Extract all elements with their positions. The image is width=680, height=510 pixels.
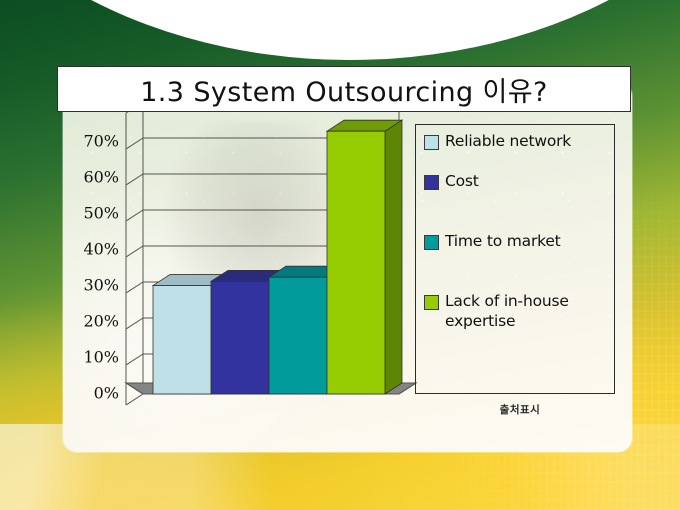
bar-4 — [327, 120, 402, 394]
header-swoosh — [0, 0, 680, 60]
legend-swatch-time-to-market — [424, 235, 439, 250]
legend-label-cost: Cost — [445, 171, 479, 191]
plot-area — [121, 82, 421, 412]
legend-swatch-cost — [424, 175, 439, 190]
page-title: 1.3 System Outsourcing 이유? — [140, 70, 548, 109]
legend-label-time-to-market: Time to market — [445, 231, 561, 251]
legend-swatch-lack-of-in-house-expertise — [424, 295, 439, 310]
y-axis-labels: 70% 60% 50% 40% 30% 20% 10% 0% — [63, 82, 119, 452]
legend-item-time-to-market: Time to market — [424, 231, 610, 251]
legend-item-lack-of-in-house-expertise: Lack of in-house expertise — [424, 291, 610, 331]
legend-swatch-reliable-network — [424, 135, 439, 150]
outsourcing-reasons-chart: 70% 60% 50% 40% 30% 20% 10% 0% — [63, 82, 632, 452]
y-tick-50: 50% — [73, 204, 119, 223]
y-tick-0: 0% — [73, 384, 119, 403]
content-panel: 70% 60% 50% 40% 30% 20% 10% 0% — [63, 82, 632, 452]
legend-item-reliable-network: Reliable network — [424, 131, 610, 151]
slide-title-box: 1.3 System Outsourcing 이유? — [57, 66, 631, 112]
y-tick-60: 60% — [73, 168, 119, 187]
y-tick-40: 40% — [73, 240, 119, 259]
chart-legend: Reliable network Cost Time to market Lac… — [415, 124, 615, 394]
legend-label-lack-of-in-house-expertise: Lack of in-house expertise — [445, 291, 610, 331]
y-tick-10: 10% — [73, 348, 119, 367]
legend-item-cost: Cost — [424, 171, 610, 191]
y-tick-30: 30% — [73, 276, 119, 295]
slide: 70% 60% 50% 40% 30% 20% 10% 0% — [0, 0, 680, 510]
legend-label-reliable-network: Reliable network — [445, 131, 571, 151]
y-tick-20: 20% — [73, 312, 119, 331]
bars-group — [153, 120, 402, 394]
source-note: 출처표시 — [435, 402, 605, 417]
y-tick-70: 70% — [73, 132, 119, 151]
